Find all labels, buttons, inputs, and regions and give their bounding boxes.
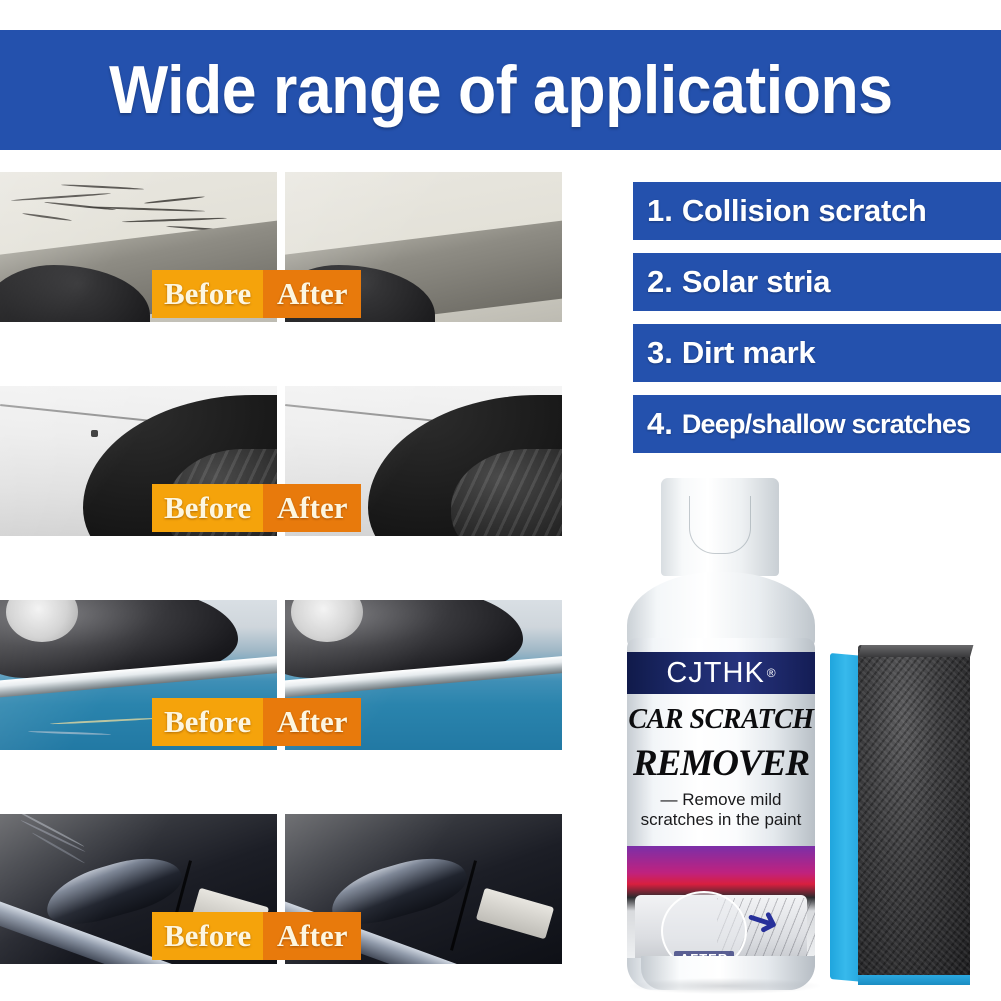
bottle-shoulder [627,572,815,648]
product-tagline: — Remove mildscratches in the paint [627,790,815,829]
abrasive-sponge [830,645,982,985]
sponge-top-edge [858,645,973,657]
product-name-line2: REMOVER [627,742,815,785]
feature-label: Solar stria [682,264,830,300]
feature-label: Dirt mark [682,335,815,371]
feature-item-solar-stria[interactable]: 2. Solar stria [633,253,1001,311]
comparison-row-collision-scratch: Before After [0,172,566,322]
cap-flip-top [689,496,751,554]
before-after-badge: Before After [152,270,361,318]
feature-label: Collision scratch [682,193,927,229]
sponge-bottom-edge [858,975,970,985]
comparison-row-headlight: Before After [0,600,566,750]
comparison-row-fender: Before After [0,386,566,536]
after-label: After [263,912,361,960]
page-title: Wide range of applications [109,56,892,124]
product-name-line1: CAR SCRATCH [627,704,815,736]
product-marketing-image: Wide range of applications [0,0,1001,1001]
header-banner: Wide range of applications [0,30,1001,150]
after-label: After [263,270,361,318]
before-label: Before [152,484,263,532]
before-after-badge: Before After [152,484,361,532]
brand-name: CJTHK [666,657,764,690]
feature-number: 3. [647,335,673,371]
before-after-badge: Before After [152,912,361,960]
comparison-row-door-handle: Before After [0,814,566,964]
before-after-badge: Before After [152,698,361,746]
feature-list: 1. Collision scratch 2. Solar stria 3. D… [633,182,1001,466]
feature-item-collision-scratch[interactable]: 1. Collision scratch [633,182,1001,240]
product-bottle: CJTHK® CAR SCRATCH REMOVER — Remove mild… [619,478,827,990]
feature-number: 1. [647,193,673,229]
bottle-cap [661,478,779,576]
feature-item-dirt-mark[interactable]: 3. Dirt mark [633,324,1001,382]
label-photo-car-door: AFTER ➜ [627,846,815,958]
feature-number: 4. [647,406,673,442]
bottle-shadow [630,978,820,994]
before-after-photo-grid: Before After [0,172,566,982]
feature-number: 2. [647,264,673,300]
feature-item-deep-shallow-scratches[interactable]: 4. Deep/shallow scratches [633,395,1001,453]
before-label: Before [152,698,263,746]
bottle-body-label: CJTHK® CAR SCRATCH REMOVER — Remove mild… [627,638,815,990]
sponge-abrasive-face [858,645,970,985]
after-label: After [263,698,361,746]
before-label: Before [152,270,263,318]
feature-label: Deep/shallow scratches [682,409,971,440]
registered-mark-icon: ® [767,666,776,680]
before-label: Before [152,912,263,960]
after-label: After [263,484,361,532]
brand-bar: CJTHK® [627,652,815,694]
